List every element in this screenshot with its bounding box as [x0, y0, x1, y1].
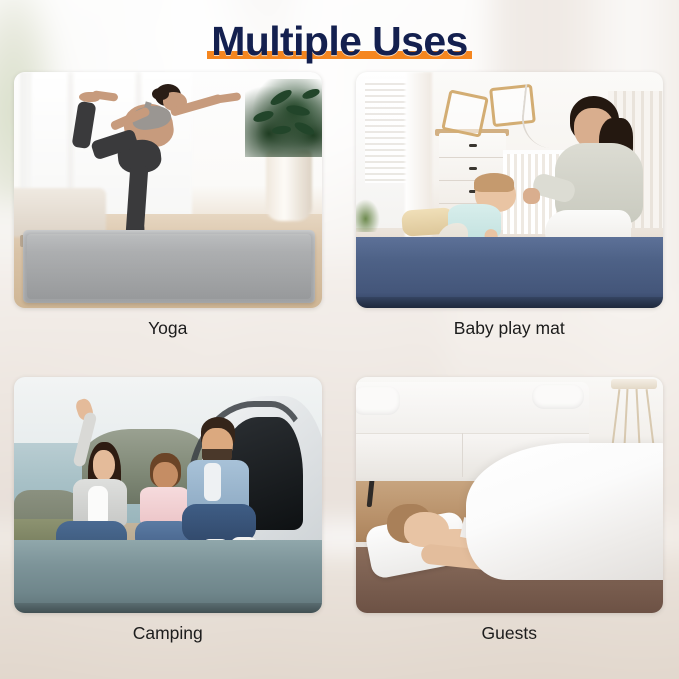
- baby-hair: [474, 173, 515, 192]
- caption-baby-play-mat: Baby play mat: [454, 320, 565, 338]
- guests-duvet: [466, 443, 663, 580]
- girl-face: [153, 462, 178, 489]
- camping-mat: [14, 540, 322, 613]
- photo-yoga: [14, 72, 322, 308]
- sofa-arm-left: [356, 386, 400, 416]
- page-title-text: Multiple Uses: [211, 18, 467, 64]
- nursery-hex-shelf-1: [441, 90, 489, 139]
- photo-guests: [356, 377, 664, 613]
- yoga-lifted-foot: [79, 92, 99, 102]
- yoga-bun: [152, 88, 168, 100]
- yoga-planter: [266, 150, 312, 221]
- nursery-plant: [356, 199, 381, 232]
- use-card-baby-play-mat: Baby play mat: [356, 72, 664, 367]
- photo-camping: [14, 377, 322, 613]
- header: Multiple Uses: [0, 13, 679, 69]
- man-tshirt: [204, 463, 221, 501]
- caption-camping: Camping: [133, 625, 203, 643]
- baby-play-mat-mat: [356, 237, 664, 308]
- use-card-yoga: Yoga: [14, 72, 322, 367]
- sofa-arm-right: [532, 384, 585, 410]
- page-title: Multiple Uses: [207, 18, 471, 65]
- caption-yoga: Yoga: [148, 320, 187, 338]
- yoga-mat: [23, 230, 315, 303]
- use-card-guests: Guests: [356, 377, 664, 672]
- photo-baby-play-mat: [356, 72, 664, 308]
- uses-grid: Yoga: [0, 72, 679, 672]
- use-card-camping: Camping: [14, 377, 322, 672]
- guests-table-top: [611, 379, 657, 389]
- caption-guests: Guests: [482, 625, 537, 643]
